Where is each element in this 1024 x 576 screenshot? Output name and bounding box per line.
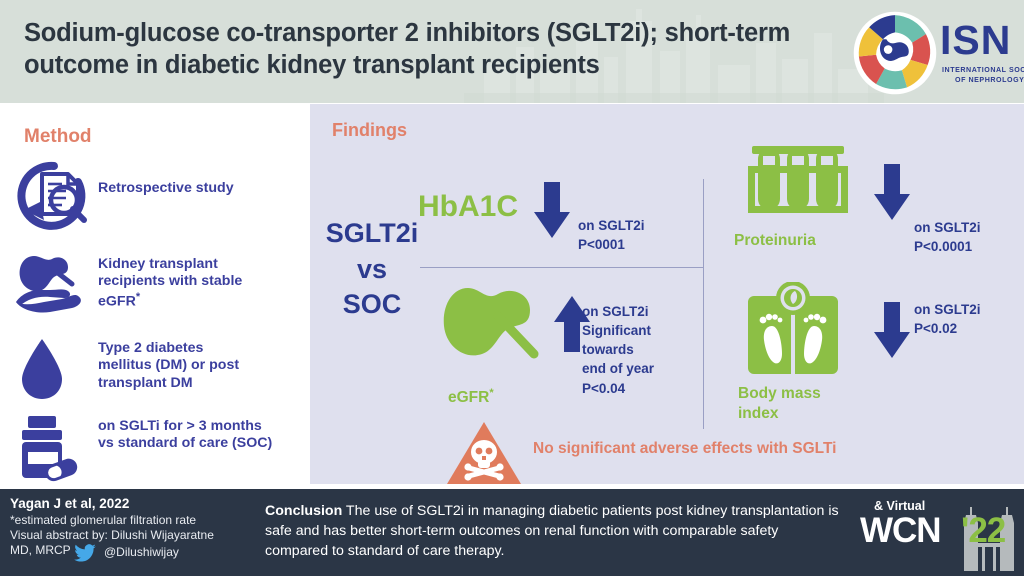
findings-panel: Findings SGLT2i vs SOC HbA1C on SGLT2i P… (310, 104, 1024, 484)
conclusion-text: The use of SGLT2i in managing diabetic p… (265, 503, 839, 559)
wcn-congress-logo: & Virtual WCN '22 (860, 497, 1024, 571)
kidney-in-hand-icon (14, 250, 90, 320)
findings-horizontal-divider (420, 267, 703, 268)
method-item-label: on SGLTi for > 3 months vs standard of c… (98, 418, 278, 453)
method-item-treatment-duration: on SGLTi for > 3 months vs standard of c… (14, 414, 304, 488)
method-item-label: Type 2 diabetes mellitus (DM) or post tr… (98, 340, 258, 392)
egfr-pvalue: P<0.04 (582, 379, 654, 398)
comparison-line-1: SGLT2i (312, 216, 432, 252)
comparison-line-3: SOC (312, 287, 432, 323)
bmi-pvalue: P<0.02 (914, 319, 981, 338)
medicine-bottle-icon (14, 414, 82, 482)
bmi-note: on SGLT2i P<0.02 (914, 300, 981, 338)
method-section-title: Method (24, 126, 92, 148)
kidney-icon (438, 282, 556, 382)
down-arrow-icon (872, 302, 912, 360)
method-item-kidney-transplant: Kidney transplant recipients with stable… (14, 250, 304, 336)
down-arrow-icon (872, 164, 912, 222)
method-item-label: Retrospective study (98, 180, 238, 197)
findings-section-title: Findings (332, 120, 407, 141)
header-banner: Sodium-glucose co-transporter 2 inhibito… (0, 0, 1024, 103)
findings-vertical-divider (703, 179, 704, 429)
comparison-label: SGLT2i vs SOC (312, 216, 432, 323)
method-item-diabetes: Type 2 diabetes mellitus (DM) or post tr… (14, 335, 304, 413)
footer-bar: Yagan J et al, 2022 *estimated glomerula… (0, 489, 1024, 576)
proteinuria-drug: on SGLT2i (914, 218, 981, 237)
retrospective-study-icon (14, 158, 90, 234)
test-tube-rack-icon (744, 144, 852, 236)
egfr-note: on SGLT2i Significant towards end of yea… (582, 302, 654, 398)
twitter-icon[interactable] (74, 544, 96, 562)
hba1c-label: HbA1C (418, 190, 518, 224)
conclusion-label: Conclusion (265, 503, 342, 519)
isn-emblem-icon (852, 10, 938, 96)
safety-statement: No significant adverse effects with SGLT… (533, 440, 836, 458)
proteinuria-note: on SGLT2i P<0.0001 (914, 218, 981, 256)
hba1c-note: on SGLT2i P<0001 (578, 216, 645, 254)
wcn-year: '22 (961, 513, 1005, 548)
bmi-label: Body mass index (738, 384, 858, 424)
bmi-drug: on SGLT2i (914, 300, 981, 319)
footnote-text: *estimated glomerular filtration rate (10, 513, 196, 528)
comparison-line-2: vs (312, 252, 432, 288)
proteinuria-pvalue: P<0.0001 (914, 237, 981, 256)
proteinuria-label: Proteinuria (734, 232, 816, 250)
isn-subtitle-line2: OF NEPHROLOGY (955, 76, 1024, 84)
citation-reference: Yagan J et al, 2022 (10, 496, 129, 511)
egfr-note-line2: Significant (582, 321, 654, 340)
isn-subtitle-line1: INTERNATIONAL SOCIETY (942, 66, 1024, 74)
egfr-label: eGFR* (448, 387, 494, 407)
egfr-note-line3: towards (582, 340, 654, 359)
wcn-name: WCN (860, 513, 941, 548)
credentials-text: MD, MRCP (10, 543, 71, 558)
blood-drop-icon (14, 335, 74, 405)
weight-scale-icon (742, 282, 844, 378)
egfr-note-line4: end of year (582, 359, 654, 378)
down-arrow-icon (532, 182, 572, 240)
hba1c-drug: on SGLT2i (578, 216, 645, 235)
page-title: Sodium-glucose co-transporter 2 inhibito… (24, 17, 814, 81)
isn-wordmark: ISN (940, 20, 1011, 61)
conclusion-statement: Conclusion The use of SGLT2i in managing… (265, 501, 845, 561)
twitter-handle[interactable]: @Dilushiwijay (104, 545, 179, 559)
visual-abstract-credit: Visual abstract by: Dilushi Wijayaratne (10, 528, 214, 543)
method-item-label: Kidney transplant recipients with stable… (98, 256, 258, 311)
egfr-drug: on SGLT2i (582, 302, 654, 321)
method-item-retrospective-study: Retrospective study (14, 158, 304, 240)
hba1c-pvalue: P<0001 (578, 235, 645, 254)
visual-abstract-page: Sodium-glucose co-transporter 2 inhibito… (0, 0, 1024, 576)
isn-logo: ISN INTERNATIONAL SOCIETY OF NEPHROLOGY (852, 6, 1020, 98)
hazard-skull-icon (445, 420, 523, 488)
